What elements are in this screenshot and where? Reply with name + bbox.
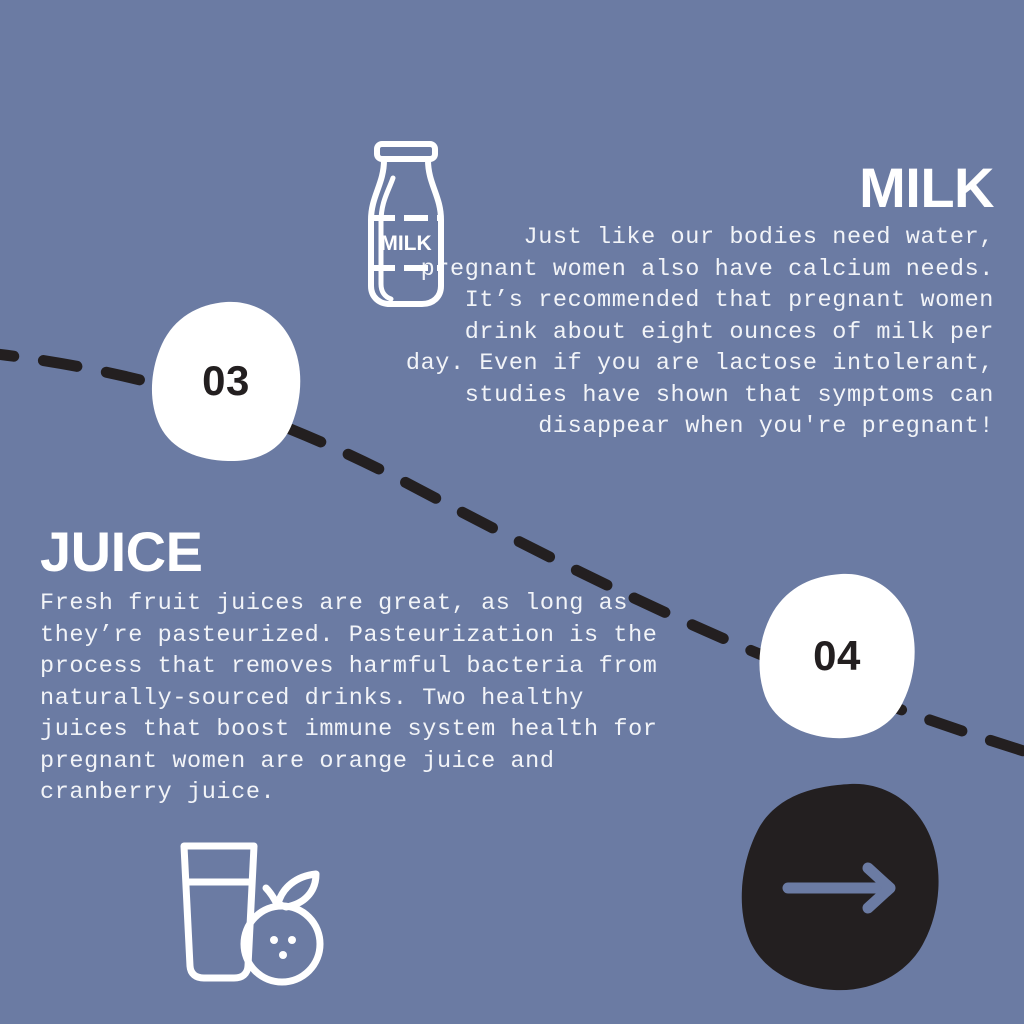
step-badge-03-label: 03: [148, 300, 304, 462]
next-arrow-button[interactable]: [740, 782, 948, 994]
milk-section-body: Just like our bodies need water, pregnan…: [404, 222, 994, 443]
milk-section-title: MILK: [404, 160, 994, 216]
juice-section-title: JUICE: [40, 524, 660, 580]
juice-section: JUICE Fresh fruit juices are great, as l…: [40, 524, 660, 809]
juice-glass-orange-icon: [178, 840, 326, 988]
milk-bottle-label: MILK: [380, 232, 431, 255]
infographic-canvas: 03 04 MILK Just like our bodies need wat…: [0, 0, 1024, 1024]
step-badge-04-label: 04: [755, 572, 919, 740]
step-badge-03[interactable]: 03: [148, 300, 304, 462]
milk-section: MILK Just like our bodies need water, pr…: [404, 160, 994, 443]
milk-bottle-icon: MILK: [360, 140, 452, 308]
juice-section-body: Fresh fruit juices are great, as long as…: [40, 588, 660, 809]
step-badge-04[interactable]: 04: [755, 572, 919, 740]
